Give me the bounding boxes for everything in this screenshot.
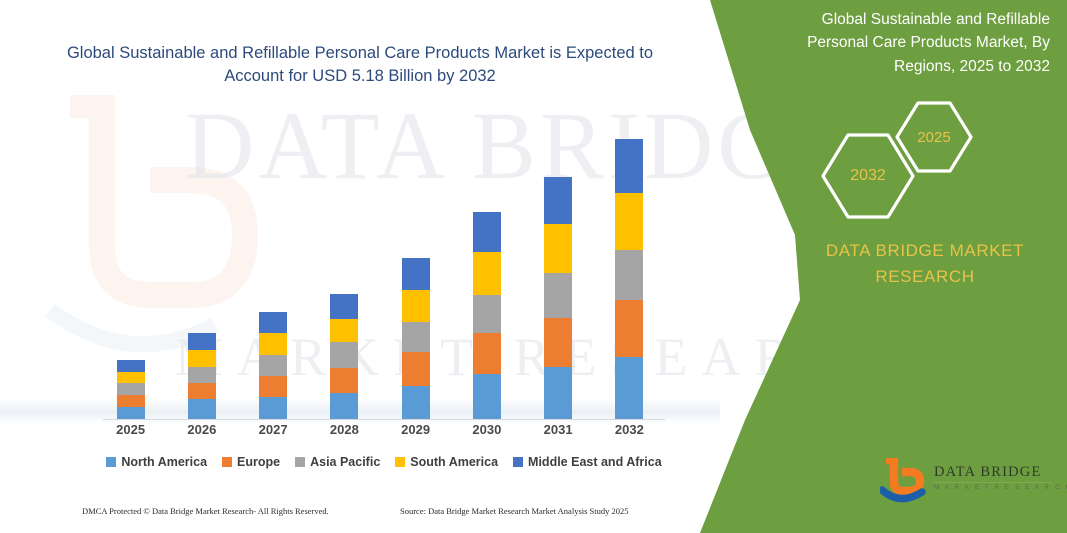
hex-badge-2025-label: 2025 [894,100,974,174]
bar-column [523,129,594,419]
legend-label: South America [410,455,498,469]
x-axis-label: 2026 [166,422,237,437]
bar-segment [188,350,216,367]
hex-badge-2025: 2025 [894,100,974,174]
x-axis-label: 2032 [594,422,665,437]
bar-segment [402,322,430,352]
bar-segment [402,258,430,290]
bar-segment [473,212,501,252]
x-axis-label: 2028 [309,422,380,437]
bar-segment [117,372,145,383]
stacked-bar [330,294,358,419]
bar-column [238,129,309,419]
bar-segment [544,273,572,318]
legend-swatch-icon [222,457,232,467]
stacked-bar [402,258,430,419]
logo-divider [934,482,1052,483]
bar-segment [544,177,572,224]
bar-series-container [95,129,665,419]
side-panel-title: Global Sustainable and Refillable Person… [760,8,1050,78]
bar-segment [330,319,358,342]
brand-name-text: DATA BRIDGE MARKET RESEARCH [800,238,1050,289]
bar-column [594,129,665,419]
bar-segment [615,139,643,193]
bar-segment [259,376,287,397]
bar-segment [330,342,358,368]
x-axis-line [103,419,665,420]
legend-item[interactable]: South America [395,455,498,469]
chart-title: Global Sustainable and Refillable Person… [60,42,660,89]
stacked-bar [615,139,643,419]
x-axis-label: 2030 [451,422,522,437]
stacked-bar [188,333,216,419]
bar-segment [615,357,643,419]
legend-label: North America [121,455,207,469]
legend-item[interactable]: Asia Pacific [295,455,380,469]
bar-column [166,129,237,419]
bar-segment [402,352,430,386]
x-axis-label: 2025 [95,422,166,437]
bar-segment [188,383,216,399]
bar-segment [615,193,643,250]
legend-item[interactable]: Middle East and Africa [513,455,662,469]
bar-segment [544,367,572,419]
logo-main-text: DATA BRIDGE [934,464,1054,481]
bar-segment [330,368,358,393]
bar-segment [117,360,145,372]
bar-segment [544,224,572,273]
bar-segment [259,333,287,355]
stacked-bar [544,177,572,419]
company-logo: DATA BRIDGE M A R K E T R E S E A R C H [880,458,1055,506]
bar-segment [473,295,501,333]
logo-sub-text: M A R K E T R E S E A R C H [934,485,1054,491]
bar-segment [259,397,287,419]
bar-segment [473,252,501,295]
stacked-bar [259,312,287,419]
bar-segment [402,290,430,322]
footer-copyright: DMCA Protected © Data Bridge Market Rese… [82,506,329,516]
legend-swatch-icon [513,457,523,467]
bar-segment [117,407,145,419]
legend-label: Asia Pacific [310,455,380,469]
data-bridge-logo-icon [880,458,928,504]
bar-column [380,129,451,419]
bar-column [95,129,166,419]
bar-segment [259,312,287,333]
chart-plot-area: 20252026202720282029203020312032 [95,120,665,420]
stacked-bar [473,212,501,419]
legend-item[interactable]: North America [106,455,207,469]
bar-segment [615,250,643,300]
bar-segment [188,333,216,350]
footer: DMCA Protected © Data Bridge Market Rese… [0,506,720,528]
bar-column [309,129,380,419]
bar-segment [117,383,145,395]
legend-swatch-icon [395,457,405,467]
chart-legend: North AmericaEuropeAsia PacificSouth Ame… [95,455,673,469]
bar-segment [259,355,287,376]
hexagon-badges: 2032 2025 [820,100,1020,220]
bar-segment [544,318,572,367]
legend-swatch-icon [295,457,305,467]
bar-segment [188,367,216,383]
bar-column [451,129,522,419]
bar-segment [117,395,145,407]
x-axis-labels: 20252026202720282029203020312032 [95,422,665,437]
footer-source: Source: Data Bridge Market Research Mark… [400,506,629,516]
bar-segment [330,393,358,419]
bar-segment [615,300,643,357]
legend-label: Middle East and Africa [528,455,662,469]
logo-wordmark: DATA BRIDGE M A R K E T R E S E A R C H [934,464,1054,491]
bar-segment [188,399,216,419]
bar-segment [402,386,430,419]
bar-segment [330,294,358,319]
x-axis-label: 2029 [380,422,451,437]
bar-segment [473,374,501,419]
legend-item[interactable]: Europe [222,455,280,469]
legend-label: Europe [237,455,280,469]
stacked-bar [117,360,145,419]
bar-segment [473,333,501,374]
x-axis-label: 2027 [238,422,309,437]
x-axis-label: 2031 [523,422,594,437]
legend-swatch-icon [106,457,116,467]
chart-panel: Global Sustainable and Refillable Person… [0,0,720,533]
infographic-root: DATA BRIDGE MARKET RESEARCH Global Susta… [0,0,1067,533]
